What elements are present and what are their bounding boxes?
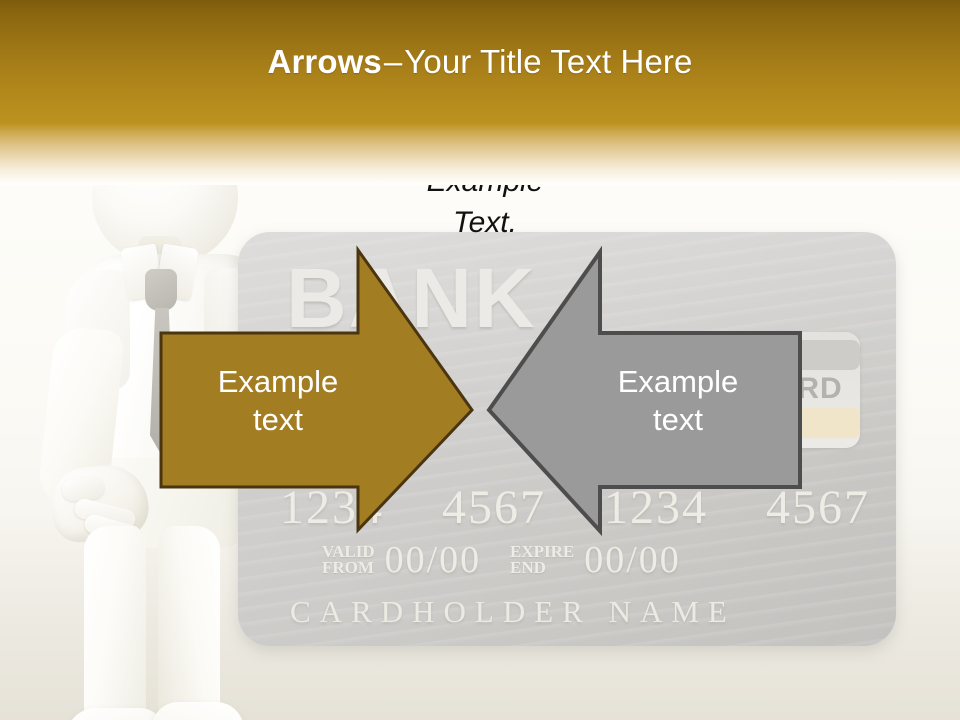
page-title-separator: – [382, 43, 404, 81]
right-arrow-label: Example text [578, 363, 778, 439]
page-title: Arrows – Your Title Text Here [0, 0, 960, 123]
title-band-fade [0, 123, 960, 185]
left-arrow-label: Example text [178, 363, 378, 439]
page-title-bold: Arrows [268, 43, 382, 81]
page-title-rest: Your Title Text Here [404, 43, 692, 81]
slide-canvas: BANK CARD 1234 4567 1234 4567 VALID FROM… [0, 0, 960, 720]
